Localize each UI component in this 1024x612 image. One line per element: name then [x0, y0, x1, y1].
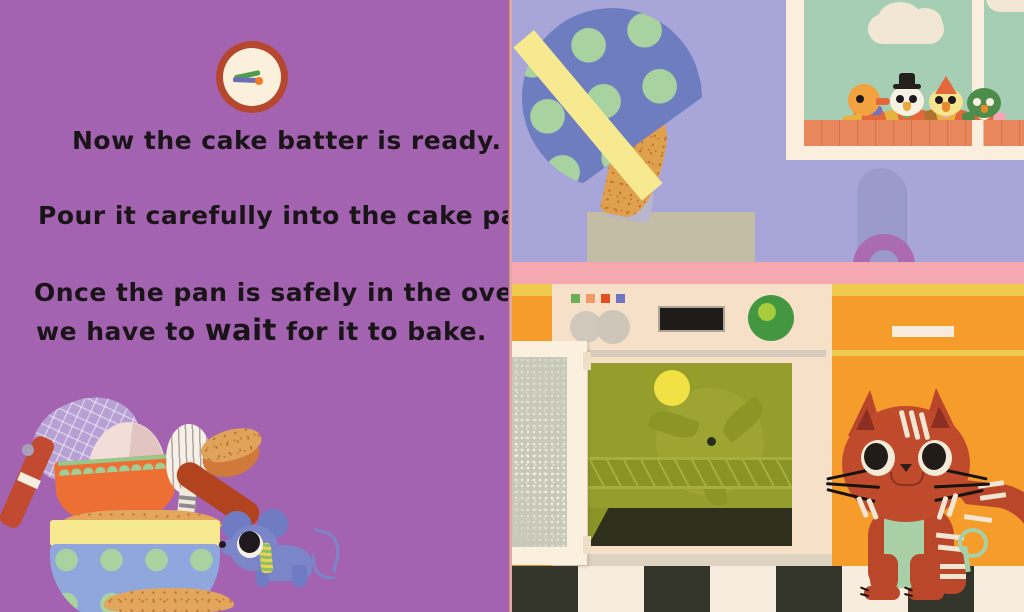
- cat-eye-left: [864, 443, 888, 470]
- right-page-kitchen: [512, 0, 1024, 612]
- story-line-4: we have to wait for it to bake.: [36, 316, 487, 345]
- story-line-2: Pour it carefully into the cake pan.: [38, 203, 546, 228]
- clock-center-dot: [255, 77, 263, 85]
- cat-eye-right: [922, 443, 946, 470]
- window-sill-mullion: [972, 120, 984, 148]
- mouse-tail-lower: [312, 553, 336, 579]
- oven-display: [658, 306, 725, 332]
- bird-head: [967, 88, 1001, 118]
- oven-light-icon: [654, 370, 690, 406]
- pouring-scene: [512, 0, 832, 270]
- oven-knob-right[interactable]: [596, 310, 630, 344]
- picture-book-spread: Now the cake batter is ready. Pour it ca…: [0, 0, 1024, 612]
- cat-ear-inner-right: [931, 406, 950, 428]
- story-line-4-part-a: we have to: [36, 317, 205, 346]
- orange-cat: [830, 388, 1024, 588]
- story-line-1: Now the cake batter is ready.: [72, 128, 501, 153]
- cat-leg-stripe: [940, 564, 966, 569]
- window-sill: [804, 120, 1024, 148]
- cabinet-handle[interactable]: [892, 326, 954, 337]
- cat-paw-left: [864, 586, 900, 600]
- oven-indicator-red: [601, 294, 610, 303]
- oven-dial-highlight: [758, 303, 776, 321]
- cat-nose: [900, 464, 912, 472]
- cabinet-divider: [832, 350, 1024, 356]
- oven-door-hinge-bottom: [583, 536, 591, 554]
- bird-cone-hat: [935, 76, 957, 94]
- oven-indicator-blue: [616, 294, 625, 303]
- bird-beak: [903, 102, 911, 111]
- story-line-4-emphasis: wait: [205, 313, 277, 347]
- mixing-bowl-rim: [50, 520, 220, 546]
- oven-rack: [588, 457, 792, 489]
- bird-beak: [942, 102, 950, 112]
- wall-clock-icon: [216, 41, 288, 113]
- oven-floor: [588, 508, 792, 546]
- story-line-4-part-c: for it to bake.: [277, 317, 487, 346]
- oven-fan-hub: [707, 437, 716, 446]
- blue-mouse: [216, 505, 324, 591]
- oven-indicator-green: [571, 294, 580, 303]
- cat-paw-right: [908, 586, 944, 600]
- cat-leg-stripe: [940, 574, 966, 579]
- mouse-eye-pupil: [239, 531, 260, 553]
- counter-edge: [512, 262, 1024, 284]
- clock-face: [223, 48, 281, 106]
- cake-pan: [587, 212, 755, 264]
- oven-base-lip: [552, 554, 832, 566]
- oven-panel-divider: [558, 350, 826, 357]
- left-page-purple: Now the cake batter is ready. Pour it ca…: [0, 0, 512, 612]
- bird-eye: [856, 95, 864, 103]
- mouse-back-leg: [292, 565, 307, 587]
- oven-indicator-orange: [586, 294, 595, 303]
- bird-head: [890, 86, 924, 116]
- bird-hat-crown: [899, 73, 915, 86]
- cat-ear-inner-left: [856, 408, 875, 430]
- batter-spill-on-floor: [104, 588, 234, 612]
- story-line-3: Once the pan is safely in the oven,: [34, 280, 541, 305]
- bird-beak: [981, 105, 988, 113]
- cloud-puff: [908, 8, 942, 36]
- oven-door-hinge-top: [583, 352, 591, 370]
- oven-door-glass: [512, 357, 567, 547]
- mouse-nose: [219, 541, 226, 548]
- bird-eye-left: [973, 98, 981, 106]
